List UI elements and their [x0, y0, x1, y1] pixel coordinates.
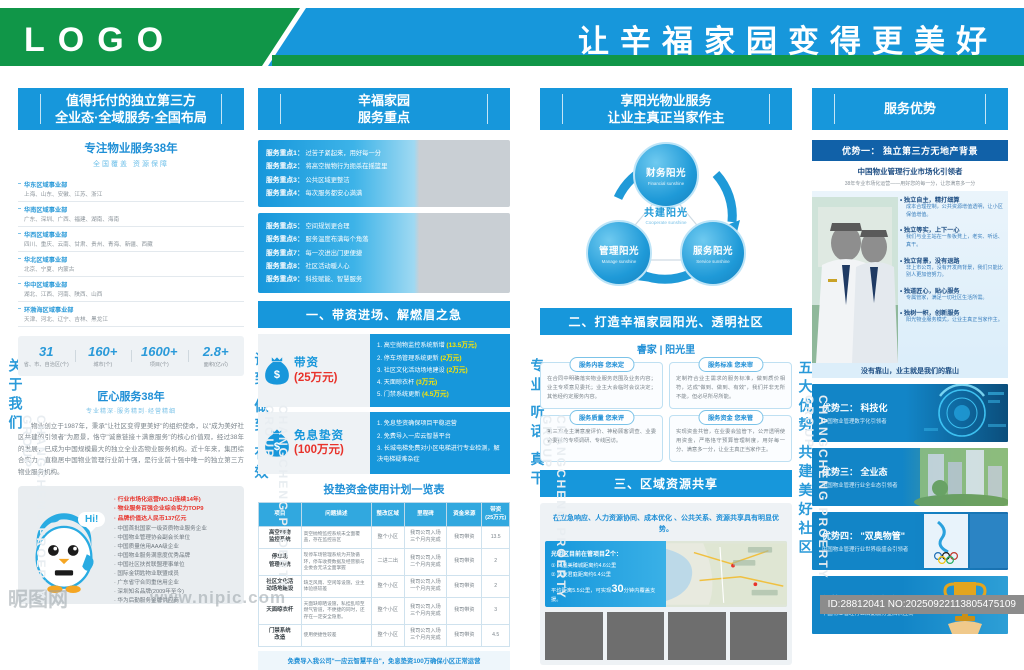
- resource-box: 在应急响应、人力资源协同、成本优化 、公共关系、资源共享具有明显优势。 光明区目…: [540, 503, 792, 665]
- fund-item: 2. 免费导入一应云智慧平台: [377, 431, 503, 443]
- plan-table-cell: 我司公司入场一个月内完成: [404, 575, 447, 597]
- plan-table-cell: 我司公司入场三个月内完成: [404, 624, 447, 646]
- key-point-row: 服务重点2： 将高空抛物行为扼杀在摇篮里: [266, 160, 502, 173]
- service-box-text: 定制符合业主需求的服务标准，做到质价相符，达成"做到、做到、有效"，我们并非无所…: [676, 375, 785, 402]
- region-map-image: [666, 541, 787, 607]
- advantage-card-2-text: 优势二： 科技化 中国物业管理数字化引领者: [822, 401, 888, 425]
- stat-item: 160+城市(个): [75, 344, 132, 368]
- fund-item: 3. 社区文化活动场地建设 (2万元): [377, 365, 503, 377]
- plan-table-cell: 我司带资: [447, 597, 482, 624]
- key-point-text: 过苦子紧起来，用好每一分: [304, 150, 381, 157]
- advantage1-foot: 没有靠山，业主就是我们的靠山: [812, 363, 1008, 378]
- advantage1-sub: 中国物业管理行业市场化引领者: [812, 166, 1008, 177]
- plan-table-cell: 我司带资: [447, 526, 482, 548]
- key-point-label: 服务重点2：: [266, 163, 304, 170]
- fund-item-text: 5. 门禁系统更新: [377, 391, 422, 398]
- photo-placeholder: [607, 612, 665, 660]
- advantage1-item: 独树一帜，创新服务阳光物业服务模式，让业主真正当家作主。: [900, 308, 1004, 325]
- fund1-left: $ 带资 (25万元): [258, 334, 370, 407]
- advantage1-item-title: 独立自主，精打细算: [900, 195, 1004, 204]
- plan-table-cell: 整个小区: [371, 597, 404, 624]
- photo-placeholder-row: [545, 612, 787, 660]
- cycle-node-manage-cn: 管理阳光: [599, 243, 639, 257]
- region-areas: 四川、重庆、云南、甘肃、贵州、青海、新疆、西藏: [24, 240, 244, 248]
- column1-sub-title: 专注物业服务38年: [18, 140, 244, 156]
- region-item: 华南区域事业部广东、深圳、广西、福建、湖南、海南: [18, 202, 244, 227]
- section2-title: 二、打造辛福家园阳光、透明社区: [540, 308, 792, 335]
- plan-table: 项目问题描述整改区域里程碑资金来源带资(25万元) 高空抛物监控系统高空抛物监控…: [258, 502, 510, 646]
- region-areas: 广东、深圳、广西、福建、湖南、海南: [24, 215, 244, 223]
- watermark-brand-c3: CHANGCHENG PROERTY GROUP: [540, 415, 568, 614]
- plan-table-cell: 2: [482, 548, 510, 575]
- region-areas: 天津、河北、辽宁、吉林、黑龙江: [24, 315, 244, 323]
- key-points-group-2: 服务重点5： 空间规划更合理服务重点6： 服务温度布满每个角落服务重点7： 每一…: [258, 213, 510, 293]
- table-row: 社区文化活动场地建设缺乏风雨、空闲等设施，业主体验感较差整个小区我司公司入场一个…: [259, 575, 510, 597]
- plan-table-cell: 整个小区: [371, 575, 404, 597]
- key-point-row: 服务重点8： 社区活动暖人心: [266, 260, 502, 273]
- plan-table-cell: 我司带资: [447, 624, 482, 646]
- photo-placeholder: [668, 612, 726, 660]
- fund-item-text: 3. 长城电梯免费对小区电梯进行专业检测，解决电梯疑难杂症: [377, 445, 500, 463]
- column1-banner-line1: 值得托付的独立第三方: [55, 92, 207, 109]
- service-box-caption: 服务标准 您来审: [698, 357, 763, 372]
- service-box-text: 实现资金共管，在业委会监管下，公开透明使用资金，严格恪守预算管理制度，用好每一分…: [676, 428, 785, 455]
- service-box: 服务资金 您来管实现资金共管，在业委会监管下，公开透明使用资金，严格恪守预算管理…: [669, 415, 792, 462]
- stat-label: 面积(亿㎡): [188, 361, 245, 368]
- column3-banner: 享阳光物业服务 让业主真正当家作主: [540, 88, 792, 130]
- cycle-center-en: Cooperate sunshine: [540, 220, 792, 225]
- honor-item: · 行业市场化运营NO.1(连续14年): [114, 496, 238, 506]
- column1-banner: 值得托付的独立第三方 全业态·全域服务·全国布局: [18, 88, 244, 130]
- column1-sub-sub: 全国覆盖 资源保障: [18, 159, 244, 169]
- plan-table-body: 高空抛物监控系统高空抛物监控系统未全面覆盖，存在监控盲区整个小区我司公司入场三个…: [259, 526, 510, 646]
- advantage-card-4-sub: 中国物业管理行业世界级盛会引领者: [822, 545, 908, 553]
- region-areas: 湖北、江西、河南、陕西、山西: [24, 290, 244, 298]
- plan-table-footer: 免费导入我公司"一应云智慧平台"，免息垫资100万确保小区正常运营: [258, 651, 510, 670]
- plan-table-cell: 13.5: [482, 526, 510, 548]
- advantage1-item-title: 独道匠心，贴心服务: [900, 286, 1004, 295]
- table-row: 门禁系统改造使用便捷性较差整个小区我司公司入场三个月内完成我司带资4.5: [259, 624, 510, 646]
- cycle-node-service: 服务阳光 Service sunshine: [680, 220, 746, 286]
- fund-item-text: 1. 高空抛物监控系统新增: [377, 342, 446, 349]
- advantage1-item: 独立等实，上下一心我们与业主站在一条板凳上，老实、听话、真干。: [900, 225, 1004, 250]
- service-box-text: 在合同中明确落实物业服务范围及业务内容；业主专项意见委托；业主大会临时会议决定；…: [547, 375, 656, 402]
- advantage-card-4-title: 优势四： "双奥物管": [822, 529, 908, 542]
- service-box: 服务内容 您来定在合同中明确落实物业服务范围及业务内容；业主专项意见委托；业主大…: [540, 362, 663, 409]
- fund-item-highlight: (4.5万元): [422, 391, 449, 398]
- key-point-row: 服务重点5： 空间规划更合理: [266, 220, 502, 233]
- cycle-node-manage: 管理阳光 Manage sunshine: [586, 220, 652, 286]
- region-list: 华东区域事业部上海、山东、安徽、江苏、浙江华南区域事业部广东、深圳、广西、福建、…: [18, 177, 244, 327]
- column2-body: 服务重点1： 过苦子紧起来，用好每一分服务重点2： 将高空抛物行为扼杀在摇篮里服…: [258, 140, 510, 670]
- plan-table-cell: 现停车场管理系统为开放循环，停车收费数据及经营额与业委会无法全面掌握: [301, 548, 371, 575]
- key-points-rows-2: 服务重点5： 空间规划更合理服务重点6： 服务温度布满每个角落服务重点7： 每一…: [258, 213, 510, 293]
- plan-table-cell: 我司带资: [447, 548, 482, 575]
- fund-item: 1. 高空抛物监控系统新增 (13.5万元): [377, 340, 503, 352]
- plan-table-cell: 我司公司入场三个月内完成: [404, 526, 447, 548]
- key-point-label: 服务重点8：: [266, 263, 304, 270]
- service-box-caption: 服务资金 您来管: [698, 410, 763, 425]
- advantage1-item-desc: 专属管家，满足一切社区生活所需。: [900, 295, 1004, 303]
- brand-line: 睿家 | 阳光里: [540, 341, 792, 356]
- plan-table-cell: 4.5: [482, 624, 510, 646]
- key-point-text: 科技赋能、智慧服务: [304, 276, 362, 283]
- column4-banner: 服务优势: [812, 88, 1008, 130]
- cycle-center-label: 共建阳光 Cooperate sunshine: [540, 204, 792, 225]
- column3-banner-line1: 享阳光物业服务: [607, 92, 724, 109]
- resource-last-num: 30: [611, 583, 623, 595]
- fund1-label: 带资 (25万元): [294, 356, 337, 385]
- fund-item-text: 2. 停车场管理系统更新: [377, 355, 440, 362]
- plan-table-header: 问题描述: [301, 503, 371, 527]
- advantage-card-2-title: 优势二： 科技化: [822, 401, 888, 414]
- fund-item-text: 1. 免息垫资确保项目平稳运营: [377, 420, 457, 427]
- advantage-card-4-text: 优势四： "双奥物管" 中国物业管理行业世界级盛会引领者: [822, 529, 908, 553]
- poster-header: LOGO 让辛福家园变得更美好: [0, 8, 1024, 66]
- region-name: 华西区域事业部: [24, 230, 244, 239]
- cycle-node-financial-cn: 财务阳光: [646, 165, 686, 179]
- column1-body: 专注物业服务38年 全国覆盖 资源保障 华东区域事业部上海、山东、安徽、江苏、浙…: [18, 140, 244, 604]
- stats-row: 31省、市、自治区(个)160+城市(个)1600+项目(个)2.8+面积(亿㎡…: [18, 336, 244, 376]
- fund-row-2: $ 免息垫资 (100万元) 1. 免息垫资确保项目平稳运营 2. 免费导入一应…: [258, 412, 510, 474]
- honor-item: · 物业服务百强企业综合实力TOP9: [114, 505, 238, 515]
- plan-table-header: 带资(25万元): [482, 503, 510, 527]
- fund2-label: 免息垫资 (100万元): [294, 429, 344, 458]
- cycle-node-financial: 财务阳光 Financial sunshine: [633, 142, 699, 208]
- fund-item: 1. 免息垫资确保项目平稳运营: [377, 418, 503, 430]
- plan-table-header: 里程碑: [404, 503, 447, 527]
- key-point-row: 服务重点3： 公共区域更整洁: [266, 174, 502, 187]
- advantage-card-3-sub: 中国物业管理行业全业态引领者: [822, 481, 897, 489]
- plan-table-cell: 我司带资: [447, 575, 482, 597]
- key-point-label: 服务重点6：: [266, 236, 304, 243]
- map-graphic: [666, 541, 787, 607]
- stat-label: 项目(个): [131, 361, 188, 368]
- resource-subtitle: 在应急响应、人力资源协同、成本优化 、公共关系、资源共享具有明显优势。: [547, 513, 785, 535]
- fund-item: 5. 门禁系统更新 (4.5万元): [377, 389, 503, 401]
- page-title: 让辛福家园变得更美好: [578, 16, 998, 61]
- advantage-card-4: 优势四： "双奥物管" 中国物业管理行业世界级盛会引领者: [812, 512, 1008, 570]
- resource-main: 光明区目前在管项目2个： ① 凤凰美臻城距离约4.6公里② 凯旋君庭距离约6.4…: [545, 541, 787, 607]
- stat-label: 省、市、自治区(个): [18, 361, 75, 368]
- advantage1-item-title: 独立背景，没有退路: [900, 256, 1004, 265]
- advantage1-item-title: 独立等实，上下一心: [900, 225, 1004, 234]
- resource-count-post: 个：: [610, 552, 622, 558]
- advantage-card-3-title: 优势三： 全业态: [822, 465, 897, 478]
- watermark-brand-c1: CHANGCHENG PROERTY GROUP: [20, 415, 48, 614]
- honor-item: · 中国首批国家一级资质物业服务企业: [114, 525, 238, 534]
- advantage-card-3-text: 优势三： 全业态 中国物业管理行业全业态引领者: [822, 465, 897, 489]
- key-point-row: 服务重点7： 每一次进出门更便捷: [266, 247, 502, 260]
- honor-item: · 国际金钥匙物业联盟成员: [114, 570, 238, 579]
- key-point-label: 服务重点9：: [266, 276, 304, 283]
- honor-item: · 中国物业服务满意度优秀品牌: [114, 552, 238, 561]
- fund-item-highlight: (2万元): [446, 367, 467, 374]
- stat-number: 1600+: [131, 344, 188, 359]
- cycle-node-manage-en: Manage sunshine: [602, 259, 637, 264]
- service-box-caption: 服务质量 您来评: [569, 410, 634, 425]
- security-guards-photo: [812, 197, 898, 363]
- fund1-items: 1. 高空抛物监控系统新增 (13.5万元)2. 停车场管理系统更新 (2万元)…: [370, 334, 510, 407]
- advantage1-item: 独道匠心，贴心服务专属管家，满足一切社区生活所需。: [900, 286, 1004, 303]
- plan-table-cell: 我司公司入场二个月内完成: [404, 548, 447, 575]
- fund-item-highlight: (3万元): [416, 379, 437, 386]
- fund-item: 4. 天面晾衣杆 (3万元): [377, 377, 503, 389]
- fund1-amount: (25万元): [294, 371, 337, 385]
- stat-item: 2.8+面积(亿㎡): [188, 344, 245, 368]
- advantage1-item: 独立自主，精打细算成本合理控制，公共资源增值透明，让小区保值增值。: [900, 195, 1004, 220]
- advantage1-item-desc: 非上市公司，没有开发商背景，我们只能比别人更加倍努力。: [900, 265, 1004, 281]
- fund-item: 3. 长城电梯免费对小区电梯进行专业检测，解决电梯疑难杂症: [377, 443, 503, 466]
- key-point-label: 服务重点4：: [266, 190, 304, 197]
- photo-placeholder: [545, 612, 603, 660]
- craft-sub: 专业精深·服务精到·经营精细: [18, 406, 244, 415]
- key-point-text: 每一次进出门更便捷: [304, 250, 362, 257]
- key-point-row: 服务重点1： 过苦子紧起来，用好每一分: [266, 147, 502, 160]
- advantage-card-2-sub: 中国物业管理数字化引领者: [822, 417, 888, 425]
- column3-banner-line2: 让业主真正当家作主: [607, 109, 724, 126]
- key-points-rows-1: 服务重点1： 过苦子紧起来，用好每一分服务重点2： 将高空抛物行为扼杀在摇篮里服…: [258, 140, 510, 207]
- fund-item-highlight: (13.5万元): [446, 342, 476, 349]
- sunshine-cycle-diagram: 财务阳光 Financial sunshine 服务阳光 Service sun…: [540, 140, 792, 300]
- fund-item: 2. 停车场管理系统更新 (2万元): [377, 353, 503, 365]
- honor-item: · 中国物业管理协会副会长单位: [114, 534, 238, 543]
- watermark-id: ID:28812041 NO:20250922113805475109: [820, 595, 1024, 614]
- craft-title: 匠心服务38年: [18, 388, 244, 404]
- plan-table-cell: 2: [482, 575, 510, 597]
- region-name: 华南区域事业部: [24, 205, 244, 214]
- stat-number: 160+: [75, 344, 132, 359]
- key-point-label: 服务重点5：: [266, 223, 304, 230]
- advantage1-body: 独立自主，精打细算成本合理控制，公共资源增值透明，让小区保值增值。独立等实，上下…: [812, 191, 1008, 363]
- stat-number: 31: [18, 344, 75, 359]
- region-name: 华中区域事业部: [24, 280, 244, 289]
- plan-table-header: 整改区域: [371, 503, 404, 527]
- region-name: 华东区域事业部: [24, 180, 244, 189]
- advantage1-item-desc: 阳光物业服务模式，让业主真正当家作主。: [900, 317, 1004, 325]
- region-areas: 上海、山东、安徽、江苏、浙江: [24, 190, 244, 198]
- craft-paragraph: 物业创立于1987年，秉承"让社区变得更美好"的组织使命，以"成为美好社区共建的…: [18, 421, 244, 478]
- key-point-row: 服务重点6： 服务温度布满每个角落: [266, 233, 502, 246]
- section1-title: 一、带资进场、解燃眉之急: [258, 301, 510, 328]
- honor-item: · 品牌价值达人民币137亿元: [114, 515, 238, 525]
- key-points-group-1: 服务重点1： 过苦子紧起来，用好每一分服务重点2： 将高空抛物行为扼杀在摇篮里服…: [258, 140, 510, 207]
- region-item: 环渤海区域事业部天津、河北、辽宁、吉林、黑龙江: [18, 302, 244, 327]
- poster-board: LOGO 让辛福家园变得更美好 值得托付的独立第三方 全业态·全域服务·全国布局…: [0, 0, 1024, 614]
- honor-item: · 中国社区扶贫联盟理事单位: [114, 561, 238, 570]
- service-box-caption: 服务内容 您来定: [569, 357, 634, 372]
- stat-item: 1600+项目(个): [131, 344, 188, 368]
- table-row: 停车场管理系统现停车场管理系统为开放循环，停车收费数据及经营额与业委会无法全面掌…: [259, 548, 510, 575]
- section3-title: 三、区域资源共享: [540, 470, 792, 497]
- key-point-label: 服务重点3：: [266, 177, 304, 184]
- stat-number: 2.8+: [188, 344, 245, 359]
- key-point-text: 空间规划更合理: [304, 223, 350, 230]
- logo: LOGO: [24, 21, 176, 60]
- table-row: 高空抛物监控系统高空抛物监控系统未全面覆盖，存在监控盲区整个小区我司公司入场三个…: [259, 526, 510, 548]
- cycle-node-service-en: Service sunshine: [696, 259, 729, 264]
- key-point-label: 服务重点1：: [266, 150, 304, 157]
- column2-banner-line2: 服务重点: [358, 109, 410, 126]
- key-point-label: 服务重点7：: [266, 250, 304, 257]
- advantage-card-3: 优势三： 全业态 中国物业管理行业全业态引领者: [812, 448, 1008, 506]
- key-point-text: 公共区域更整洁: [304, 177, 350, 184]
- fund-row-1: $ 带资 (25万元) 1. 高空抛物监控系统新增 (13.5万元)2. 停车场…: [258, 334, 510, 407]
- key-point-text: 社区活动暖人心: [304, 263, 350, 270]
- cycle-node-service-cn: 服务阳光: [693, 243, 733, 257]
- honor-item: · 中国质量信用AAA级企业: [114, 543, 238, 552]
- advantage-card-2: 优势二： 科技化 中国物业管理数字化引领者: [812, 384, 1008, 442]
- stat-item: 31省、市、自治区(个): [18, 344, 75, 368]
- table-row: 天面晾衣杆天面缺晾晒设施，私挂乱晾至燃气管道，不便捷的同时，还存在一定安全隐患。…: [259, 597, 510, 624]
- advantage1-item-desc: 成本合理控制，公共资源增值透明，让小区保值增值。: [900, 204, 1004, 220]
- photo-placeholder: [730, 612, 788, 660]
- key-point-row: 服务重点9： 科技赋能、智慧服务: [266, 273, 502, 286]
- cycle-center-cn: 共建阳光: [540, 204, 792, 219]
- region-name: 华北区域事业部: [24, 255, 244, 264]
- plan-table-cell: 整个小区: [371, 624, 404, 646]
- stat-label: 城市(个): [75, 361, 132, 368]
- plan-table-cell: 缺乏风雨、空闲等设施，业主体验感较差: [301, 575, 371, 597]
- column3-body: 财务阳光 Financial sunshine 服务阳光 Service sun…: [540, 140, 792, 665]
- honor-item: · 广东省守合同重信用企业: [114, 579, 238, 588]
- region-item: 华北区域事业部北京、宁夏、内蒙古: [18, 252, 244, 277]
- region-item: 华中区域事业部湖北、江西、河南、陕西、山西: [18, 277, 244, 302]
- column2-banner-line1: 辛福家园: [358, 92, 410, 109]
- advantage1-item-desc: 我们与业主站在一条板凳上，老实、听话、真干。: [900, 234, 1004, 250]
- column1-banner-line2: 全业态·全域服务·全国布局: [55, 109, 207, 126]
- cycle-node-financial-en: Financial sunshine: [648, 181, 684, 186]
- fund-item-text: 4. 天面晾衣杆: [377, 379, 416, 386]
- fund-item-text: 3. 社区文化活动场地建设: [377, 367, 446, 374]
- plan-table-cell: 我司公司入场三个月内完成: [404, 597, 447, 624]
- fund2-amount: (100万元): [294, 443, 344, 457]
- key-point-row: 服务重点4： 每次服务都安心满满: [266, 187, 502, 200]
- money-bag-icon: $: [264, 356, 290, 386]
- advantage1-items: 独立自主，精打细算成本合理控制，公共资源增值透明，让小区保值增值。独立等实，上下…: [900, 195, 1004, 331]
- advantage1-head: 优势一： 独立第三方无地产背景: [812, 140, 1008, 161]
- key-point-text: 将高空抛物行为扼杀在摇篮里: [304, 163, 388, 170]
- advantage1-sub2: 38年专业市场化运营——用好您的每一分，让您满意多一分: [812, 180, 1008, 187]
- svg-text:$: $: [274, 369, 280, 381]
- plan-table-title: 投垫资金使用计划一览表: [258, 481, 510, 497]
- service-box: 服务标准 您来审定制符合业主需求的服务标准，做到质价相符，达成"做到、做到、有效…: [669, 362, 792, 409]
- fund-item-text: 2. 免费导入一应云智慧平台: [377, 433, 451, 440]
- watermark-brand-c4: CHANGCHENG PROERTY GROUP: [802, 395, 830, 614]
- fund1-name: 带资: [294, 356, 337, 370]
- plan-table-cell: 门禁系统改造: [259, 624, 302, 646]
- fund2-items: 1. 免息垫资确保项目平稳运营 2. 免费导入一应云智慧平台 3. 长城电梯免费…: [370, 412, 510, 474]
- plan-table-cell: 高空抛物监控系统未全面覆盖，存在监控盲区: [301, 526, 371, 548]
- fund-item-highlight: (2万元): [440, 355, 461, 362]
- region-item: 华西区域事业部四川、重庆、云南、甘肃、贵州、青海、新疆、西藏: [18, 227, 244, 252]
- column4-banner-label: 服务优势: [884, 100, 936, 117]
- region-item: 华东区域事业部上海、山东、安徽、江苏、浙江: [18, 177, 244, 202]
- plan-table-header: 资金来源: [447, 503, 482, 527]
- plan-table-header-row: 项目问题描述整改区域里程碑资金来源带资(25万元): [259, 503, 510, 527]
- key-point-text: 每次服务都安心满满: [304, 190, 362, 197]
- region-areas: 北京、宁夏、内蒙古: [24, 265, 244, 273]
- hi-bubble: Hi!: [78, 512, 105, 527]
- key-point-text: 服务温度布满每个角落: [304, 236, 369, 243]
- watermark-brand-c2: CHANGCHENG PROERTY GROUP: [262, 405, 290, 614]
- advantage1-item-title: 独树一帜，创新服务: [900, 308, 1004, 317]
- column2-banner: 辛福家园 服务重点: [258, 88, 510, 130]
- region-name: 环渤海区域事业部: [24, 305, 244, 314]
- plan-table-cell: 使用便捷性较差: [301, 624, 371, 646]
- plan-table-cell: 3: [482, 597, 510, 624]
- advantage1-item: 独立背景，没有退路非上市公司，没有开发商背景，我们只能比别人更加倍努力。: [900, 256, 1004, 281]
- service-boxes-grid: 服务内容 您来定在合同中明确落实物业服务范围及业务内容；业主专项意见委托；业主大…: [540, 362, 792, 462]
- plan-table-cell: 二进二出: [371, 548, 404, 575]
- plan-table-cell: 天面缺晾晒设施，私挂乱晾至燃气管道，不便捷的同时，还存在一定安全隐患。: [301, 597, 371, 624]
- column4-body: 优势一： 独立第三方无地产背景 中国物业管理行业市场化引领者 38年专业市场化运…: [812, 140, 1008, 634]
- fund2-name: 免息垫资: [294, 429, 344, 443]
- plan-table-cell: 整个小区: [371, 526, 404, 548]
